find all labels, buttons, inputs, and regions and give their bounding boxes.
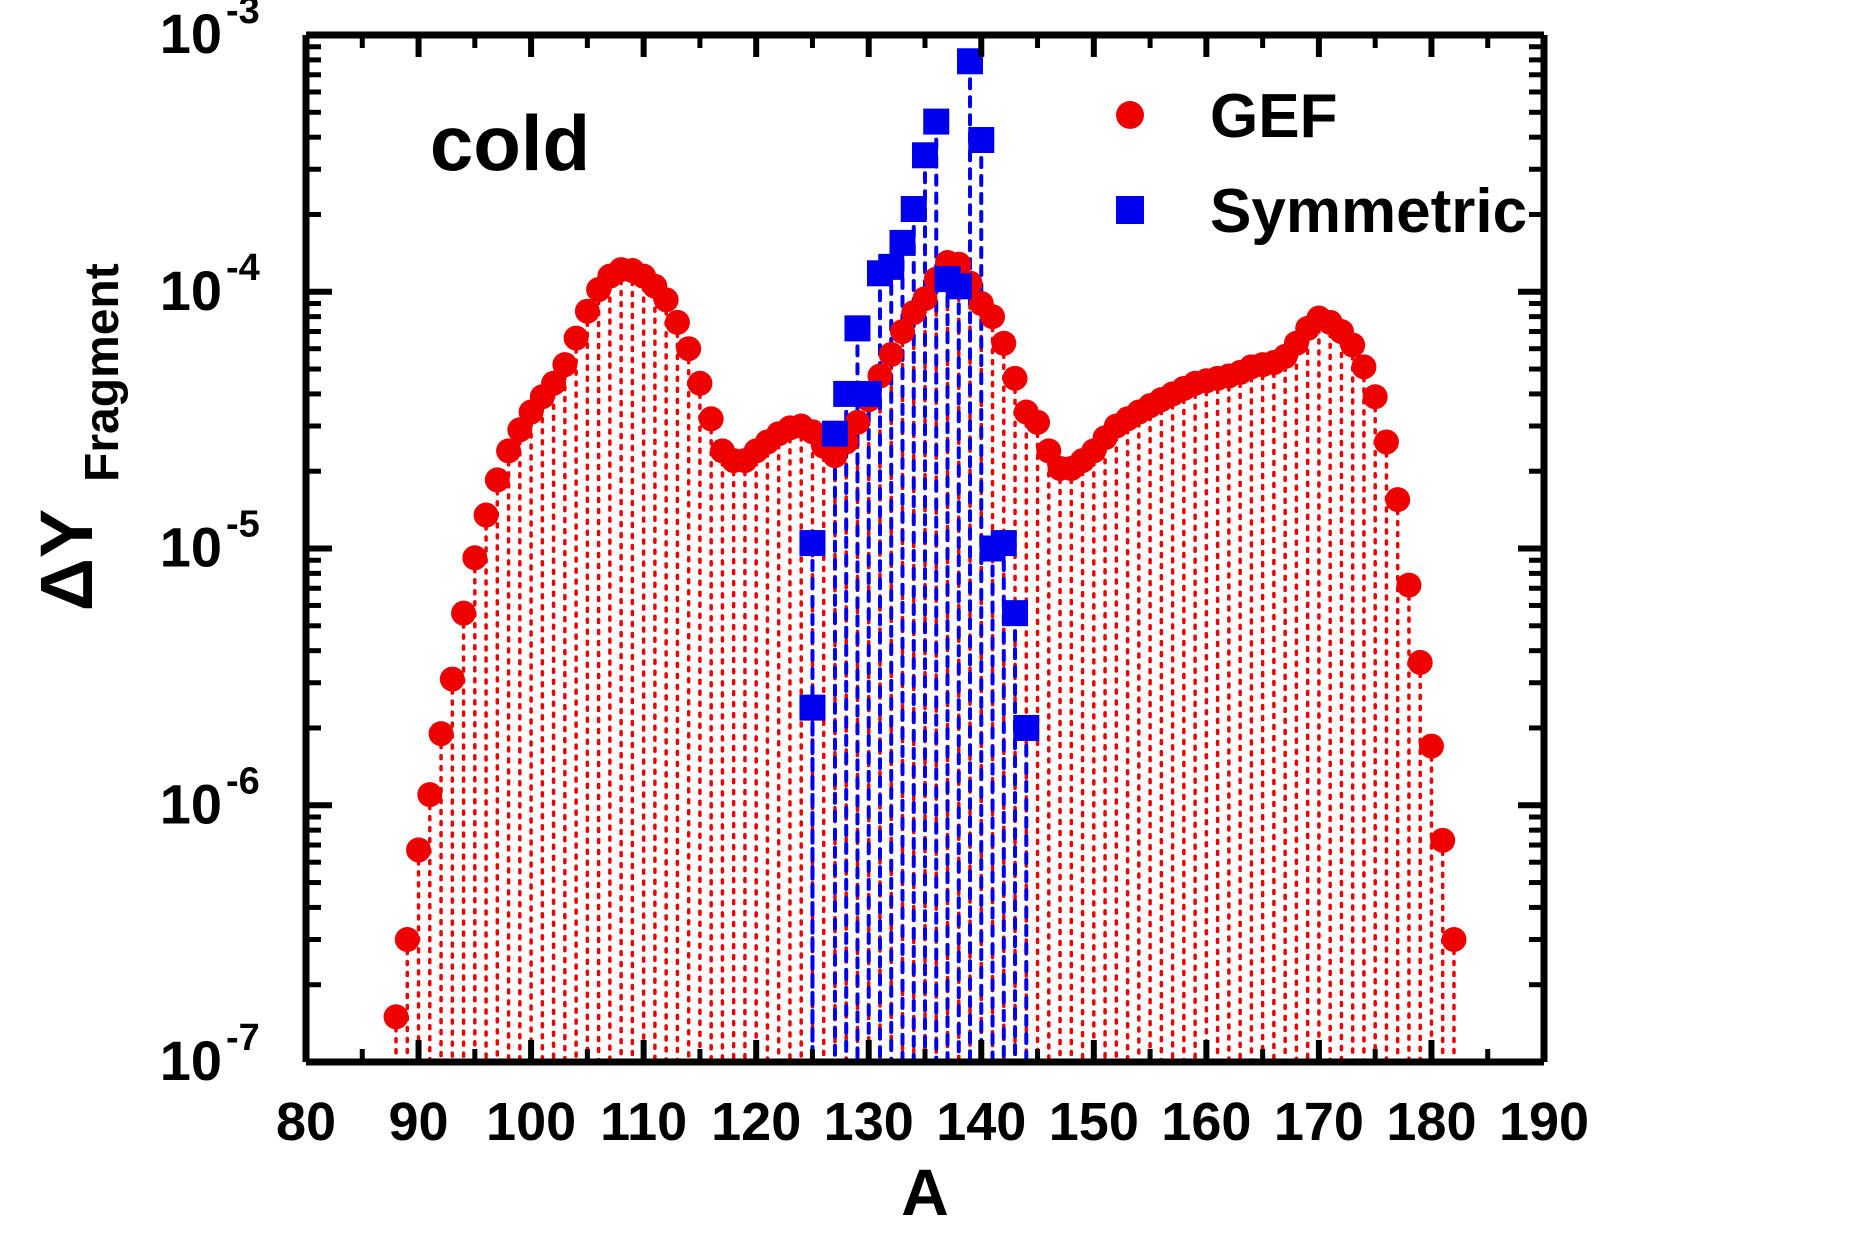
- x-tick-label: 180: [1386, 1092, 1476, 1152]
- data-point-symmetric[interactable]: [1002, 600, 1028, 626]
- data-point-gef[interactable]: [485, 467, 510, 492]
- data-point-gef[interactable]: [845, 410, 870, 435]
- data-point-symmetric[interactable]: [799, 695, 825, 721]
- data-point-gef[interactable]: [654, 287, 679, 312]
- y-tick-label-exponent: -5: [226, 504, 260, 546]
- data-point-gef[interactable]: [1374, 429, 1399, 454]
- data-point-symmetric[interactable]: [946, 273, 972, 299]
- data-point-gef[interactable]: [980, 304, 1005, 329]
- legend-marker-symmetric: [1116, 196, 1144, 224]
- data-point-gef[interactable]: [1408, 650, 1433, 675]
- y-axis-title: ΔYFragment: [25, 263, 129, 611]
- data-point-gef[interactable]: [676, 336, 701, 361]
- y-tick-label-mantissa: 10: [160, 2, 222, 65]
- y-axis-title-sub: Fragment: [76, 263, 129, 482]
- data-point-gef[interactable]: [1003, 366, 1028, 391]
- data-point-gef[interactable]: [1385, 487, 1410, 512]
- y-tick-label-exponent: -4: [226, 247, 260, 289]
- data-point-symmetric[interactable]: [912, 142, 938, 168]
- x-tick-label: 170: [1274, 1092, 1364, 1152]
- y-tick-label-exponent: -6: [226, 760, 260, 802]
- y-tick-label-mantissa: 10: [160, 772, 222, 835]
- data-point-symmetric[interactable]: [968, 127, 994, 153]
- y-tick-label-exponent: -3: [226, 0, 260, 32]
- data-point-gef[interactable]: [406, 837, 431, 862]
- data-point-gef[interactable]: [1430, 828, 1455, 853]
- data-point-gef[interactable]: [474, 503, 499, 528]
- x-axis-title: A: [901, 1155, 949, 1229]
- x-tick-label: 110: [600, 1092, 687, 1152]
- y-tick-label-exponent: -7: [226, 1017, 260, 1059]
- data-point-gef[interactable]: [564, 326, 589, 351]
- data-point-symmetric[interactable]: [901, 196, 927, 222]
- y-tick-label: 10-7: [160, 1017, 260, 1092]
- data-point-gef[interactable]: [665, 310, 690, 335]
- x-tick-label: 90: [389, 1092, 449, 1152]
- y-axis-title-main: ΔY: [25, 509, 108, 612]
- data-point-symmetric[interactable]: [991, 530, 1017, 556]
- data-point-gef[interactable]: [451, 601, 476, 626]
- annotation-cold: cold: [430, 99, 590, 187]
- data-point-gef[interactable]: [575, 299, 600, 324]
- data-point-symmetric[interactable]: [1013, 715, 1039, 741]
- x-tick-label: 140: [936, 1092, 1026, 1152]
- data-point-symmetric[interactable]: [833, 381, 859, 407]
- data-point-gef[interactable]: [1441, 927, 1466, 952]
- x-tick-label: 190: [1499, 1092, 1589, 1152]
- x-tick-label: 120: [711, 1092, 801, 1152]
- legend-marker-gef: [1116, 101, 1144, 129]
- data-point-gef[interactable]: [687, 371, 712, 396]
- legend-label-gef: GEF: [1210, 82, 1337, 151]
- data-point-gef[interactable]: [395, 927, 420, 952]
- y-tick-label-mantissa: 10: [160, 259, 222, 322]
- data-point-gef[interactable]: [1396, 573, 1421, 598]
- y-tick-label: 10-5: [160, 504, 260, 579]
- y-tick-label-mantissa: 10: [160, 1029, 222, 1092]
- data-point-gef[interactable]: [429, 721, 454, 746]
- data-point-gef[interactable]: [1340, 333, 1365, 358]
- y-tick-label: 10-3: [160, 0, 260, 65]
- data-point-gef[interactable]: [879, 342, 904, 367]
- data-point-gef[interactable]: [496, 438, 521, 463]
- y-tick-label-mantissa: 10: [160, 516, 222, 579]
- figure-container: 809010011012013014015016017018019010-710…: [0, 0, 1849, 1259]
- y-tick-label: 10-6: [160, 760, 260, 835]
- x-tick-label: 150: [1049, 1092, 1139, 1152]
- data-point-gef[interactable]: [440, 667, 465, 692]
- data-point-symmetric[interactable]: [844, 315, 870, 341]
- legend-label-symmetric: Symmetric: [1210, 177, 1527, 246]
- y-tick-label: 10-4: [160, 247, 260, 322]
- data-point-symmetric[interactable]: [799, 530, 825, 556]
- x-tick-label: 80: [276, 1092, 336, 1152]
- data-point-gef[interactable]: [1363, 384, 1388, 409]
- data-point-symmetric[interactable]: [923, 109, 949, 135]
- data-point-symmetric[interactable]: [822, 421, 848, 447]
- data-point-gef[interactable]: [1025, 410, 1050, 435]
- x-tick-label: 130: [824, 1092, 914, 1152]
- data-point-symmetric[interactable]: [889, 230, 915, 256]
- x-tick-label: 100: [486, 1092, 576, 1152]
- data-point-gef[interactable]: [462, 545, 487, 570]
- data-point-gef[interactable]: [991, 331, 1016, 356]
- chart-canvas: 809010011012013014015016017018019010-710…: [0, 0, 1849, 1259]
- data-point-gef[interactable]: [384, 1004, 409, 1029]
- data-point-gef[interactable]: [417, 782, 442, 807]
- data-point-gef[interactable]: [552, 352, 577, 377]
- data-point-gef[interactable]: [1419, 734, 1444, 759]
- data-point-symmetric[interactable]: [878, 254, 904, 280]
- data-point-gef[interactable]: [1351, 354, 1376, 379]
- x-tick-label: 160: [1161, 1092, 1251, 1152]
- data-point-gef[interactable]: [699, 406, 724, 431]
- data-point-symmetric[interactable]: [856, 381, 882, 407]
